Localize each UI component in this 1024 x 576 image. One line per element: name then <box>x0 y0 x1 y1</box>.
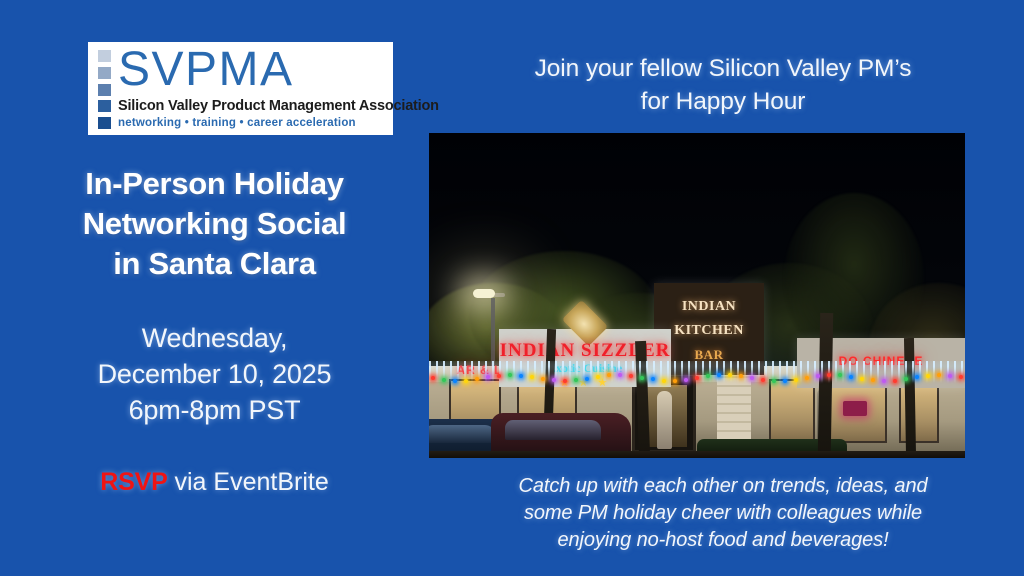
left-column: SVPMA Silicon Valley Product Management … <box>0 0 429 576</box>
logo-subtitle: Silicon Valley Product Management Associ… <box>118 98 439 114</box>
string-light-bulb <box>497 374 501 378</box>
logo-square-5 <box>98 117 111 129</box>
headline-line-1: In-Person Holiday <box>0 164 429 204</box>
caption-line-2: some PM holiday cheer with colleagues wh… <box>437 500 1009 527</box>
string-light-bulb <box>574 378 578 382</box>
string-light-bulb <box>541 377 545 381</box>
string-light-bulb <box>629 374 633 378</box>
logo-square-2 <box>98 67 111 79</box>
palm-trunk-3 <box>818 313 833 453</box>
string-light-bulb <box>926 374 930 378</box>
svpma-logo: SVPMA Silicon Valley Product Management … <box>88 42 393 135</box>
caption-line-3: enjoying no-host food and beverages! <box>437 527 1009 554</box>
join-line-2: for Happy Hour <box>437 85 1009 118</box>
string-light-bulb <box>904 377 908 381</box>
string-light-bulb <box>882 379 886 383</box>
string-light-bulb <box>486 375 490 379</box>
join-line-1: Join your fellow Silicon Valley PM’s <box>437 52 1009 85</box>
rsvp-label[interactable]: RSVP <box>100 468 167 496</box>
string-light-bulb <box>431 376 435 380</box>
string-light-bulb <box>783 379 787 383</box>
string-light-bulb <box>519 374 523 378</box>
headline-line-3: in Santa Clara <box>0 244 429 284</box>
string-light-bulb <box>530 375 534 379</box>
event-caption: Catch up with each other on trends, idea… <box>437 473 1009 554</box>
street-lamp-light <box>473 289 495 298</box>
date-line-3: 6pm-8pm PST <box>0 392 429 428</box>
string-light-bulb <box>552 378 556 382</box>
indian-kitchen-line-1: INDIAN <box>654 299 764 315</box>
string-light-bulb <box>453 379 457 383</box>
headline-line-2: Networking Social <box>0 204 429 244</box>
string-light-bulb <box>959 375 963 379</box>
string-light-bulb <box>860 377 864 381</box>
string-light-bulb <box>563 379 567 383</box>
date-line-1: Wednesday, <box>0 320 429 356</box>
join-invitation-text: Join your fellow Silicon Valley PM’s for… <box>437 52 1009 118</box>
string-light-bulb <box>794 378 798 382</box>
logo-wordmark: SVPMA <box>118 46 439 94</box>
string-light-bulb <box>442 378 446 382</box>
string-light-bulb <box>871 378 875 382</box>
string-light-bulb <box>651 377 655 381</box>
string-light-bulb <box>706 374 710 378</box>
logo-text-block: SVPMA Silicon Valley Product Management … <box>111 48 439 130</box>
string-light-bulb <box>838 373 842 377</box>
string-light-bulb <box>728 373 732 377</box>
string-light-bulb <box>596 375 600 379</box>
string-light-bulb <box>849 375 853 379</box>
date-line-2: December 10, 2025 <box>0 356 429 392</box>
string-light-bulb <box>662 379 666 383</box>
rsvp-eventbrite-link[interactable]: via EventBrite <box>168 468 329 496</box>
string-light-bulb <box>805 376 809 380</box>
string-light-bulb <box>761 378 765 382</box>
event-headline: In-Person Holiday Networking Social in S… <box>0 164 429 284</box>
logo-square-4 <box>98 100 111 112</box>
logo-tagline: networking • training • career accelerat… <box>118 117 439 130</box>
string-light-bulb <box>893 379 897 383</box>
venue-photo: 4150 DO CHINESE INDIAN KITCHEN BAR AR & … <box>429 133 965 458</box>
string-light-bulb <box>585 377 589 381</box>
string-light-bulb <box>464 379 468 383</box>
string-light-bulb <box>739 374 743 378</box>
ground-strip <box>429 451 965 458</box>
neon-window-sign <box>843 401 867 416</box>
string-light-bulb <box>948 374 952 378</box>
string-light-bulb <box>695 376 699 380</box>
rsvp-line[interactable]: RSVP via EventBrite <box>0 466 429 498</box>
string-light-bulb <box>673 379 677 383</box>
car-windshield-1 <box>429 425 495 443</box>
car-windshield-2 <box>505 420 601 440</box>
string-lights <box>429 373 965 383</box>
string-light-bulb <box>915 375 919 379</box>
logo-square-1 <box>98 50 111 62</box>
logo-square-3 <box>98 84 111 96</box>
palm-trunk-4 <box>904 338 916 456</box>
event-flyer: SVPMA Silicon Valley Product Management … <box>0 0 1024 576</box>
event-datetime: Wednesday, December 10, 2025 6pm-8pm PST <box>0 320 429 428</box>
string-light-bulb <box>772 379 776 383</box>
string-light-bulb <box>717 373 721 377</box>
person-silhouette <box>657 391 672 449</box>
logo-squares-icon <box>98 48 111 130</box>
storefront-window-3 <box>769 379 815 443</box>
string-light-bulb <box>618 373 622 377</box>
string-light-bulb <box>684 378 688 382</box>
string-light-bulb <box>640 376 644 380</box>
string-light-bulb <box>816 374 820 378</box>
string-light-bulb <box>475 377 479 381</box>
string-light-bulb <box>508 373 512 377</box>
string-light-bulb <box>607 373 611 377</box>
string-light-bulb <box>937 373 941 377</box>
string-light-bulb <box>750 376 754 380</box>
string-light-bulb <box>827 373 831 377</box>
caption-line-1: Catch up with each other on trends, idea… <box>437 473 1009 500</box>
